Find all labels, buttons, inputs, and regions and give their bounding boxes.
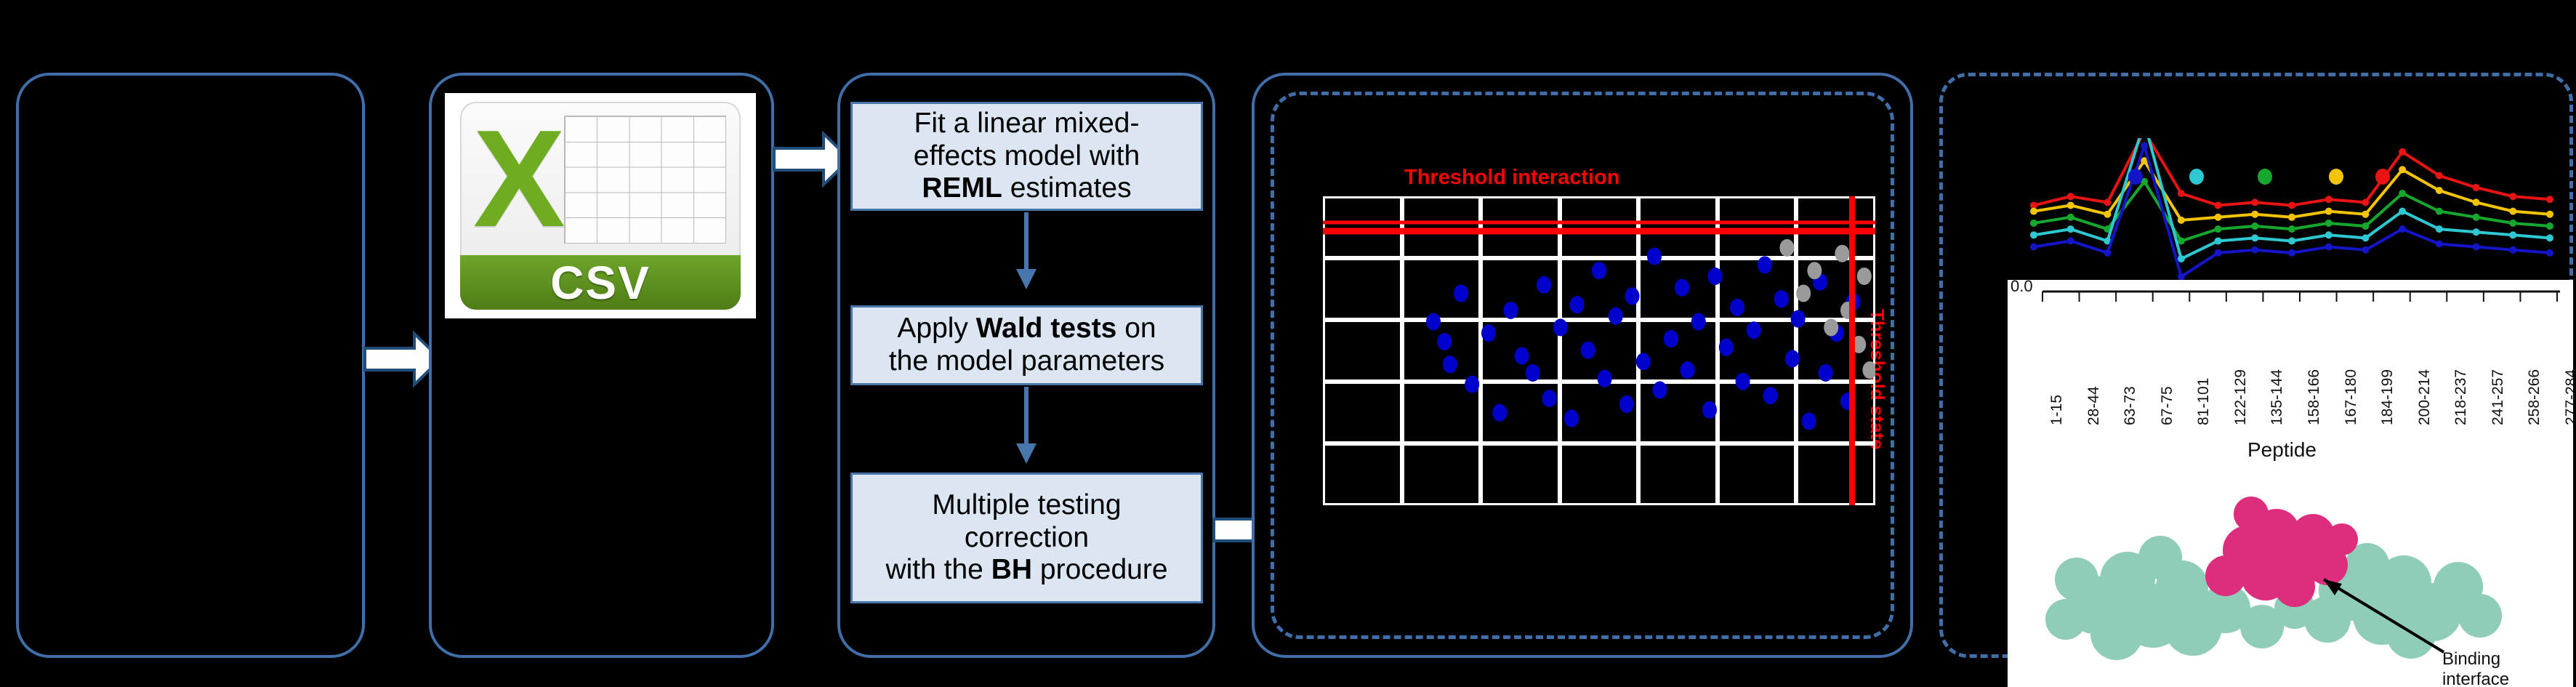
peptide-tick-258-266: 258-266 — [2526, 369, 2543, 425]
csv-file-icon: X CSV — [445, 93, 756, 318]
scatter-threshold-title: Threshold interaction — [1404, 166, 1619, 190]
peptide-tick-81-101: 81-101 — [2195, 378, 2213, 425]
binding-interface-line-1: Binding — [2442, 649, 2509, 670]
wald-bold: Wald tests — [976, 313, 1117, 344]
peptide-tick-218-237: 218-237 — [2452, 369, 2470, 425]
peptide-structure-card: 0.0 1-1528-4463-7367-7581-101122-129135-… — [2008, 280, 2573, 687]
peptide-tick-63-73: 63-73 — [2122, 386, 2139, 425]
bh-line-2: correction — [885, 522, 1167, 555]
peptide-tick-1-15: 1-15 — [2048, 395, 2066, 425]
peptide-tick-67-75: 67-75 — [2159, 386, 2176, 425]
peptide-tick-277-284: 277-284 — [2563, 369, 2573, 425]
reml-suffix: estimates — [1002, 172, 1132, 204]
binding-interface-line-2: interface — [2442, 670, 2509, 687]
wald-tests-box: Apply Wald tests on the model parameters — [850, 305, 1203, 385]
wald-line-1: Apply Wald tests on — [889, 313, 1164, 345]
legend-dot-series-1 — [2375, 169, 2390, 185]
wald-suffix: on — [1116, 313, 1156, 344]
peptide-line-chart — [1999, 138, 2566, 294]
bh-line-1: Multiple testing — [885, 489, 1167, 522]
reml-bold: REML — [922, 172, 1002, 204]
wald-line-2: the model parameters — [889, 345, 1164, 378]
fit-model-box: Fit a linear mixed- effects model with R… — [850, 102, 1203, 211]
fit-model-line-1: Fit a linear mixed- — [914, 108, 1140, 140]
legend-dot-series-4 — [2189, 169, 2204, 185]
peptide-tick-167-180: 167-180 — [2343, 369, 2360, 425]
csv-icon-grid — [564, 116, 726, 243]
wald-prefix: Apply — [897, 313, 975, 344]
bh-line-3: with the BH procedure — [885, 554, 1167, 587]
peptide-tick-135-144: 135-144 — [2269, 369, 2286, 425]
peptide-tick-28-44: 28-44 — [2085, 386, 2103, 425]
legend-dot-series-3 — [2258, 169, 2272, 185]
bh-suffix: procedure — [1032, 554, 1167, 585]
peptide-axis-label: Peptide — [2247, 438, 2317, 462]
csv-icon-band: CSV — [460, 255, 740, 309]
binding-interface-annotation: Binding interface — [2442, 649, 2509, 687]
bh-prefix: with the — [885, 554, 991, 585]
connector-wald-to-bh — [1012, 387, 1041, 467]
peptide-tick-158-166: 158-166 — [2306, 369, 2323, 425]
bh-bold: BH — [991, 554, 1032, 585]
peptide-tick-184-199: 184-199 — [2379, 369, 2396, 425]
volcano-scatter-plot — [1323, 196, 1875, 505]
pipeline-figure: X CSV Fit a linear mixed- effects model … — [0, 0, 2576, 687]
legend-dot-series-5 — [2128, 169, 2143, 185]
multiple-testing-box: Multiple testing correction with the BH … — [850, 473, 1203, 603]
peptide-axis — [2008, 287, 2573, 309]
peptide-tick-122-129: 122-129 — [2232, 369, 2250, 425]
connector-fit-to-wald — [1012, 212, 1041, 292]
peptide-tick-241-257: 241-257 — [2490, 369, 2507, 425]
csv-icon-label: CSV — [550, 256, 651, 310]
peptide-tick-200-214: 200-214 — [2416, 369, 2434, 425]
csv-icon-letter: X — [469, 105, 570, 253]
fit-model-line-2: effects model with — [914, 140, 1140, 173]
fit-model-line-3: REML estimates — [914, 172, 1140, 205]
legend-dot-series-2 — [2329, 169, 2343, 185]
stage-box-1 — [16, 73, 365, 658]
